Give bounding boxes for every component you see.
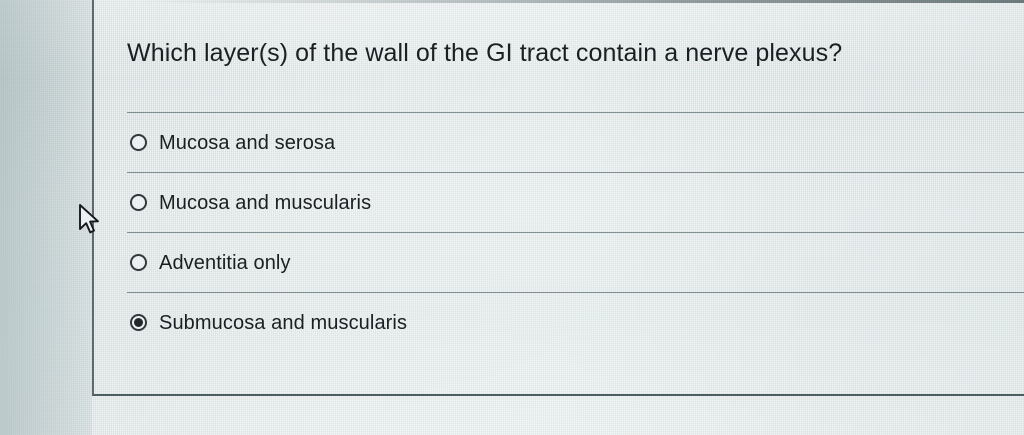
answer-option-4[interactable]: Submucosa and muscularis (127, 292, 1024, 352)
answer-option-label-4: Submucosa and muscularis (159, 311, 407, 335)
radio-button-icon-1[interactable] (130, 134, 147, 151)
radio-button-icon-4[interactable] (130, 314, 147, 331)
answer-option-1[interactable]: Mucosa and serosa (127, 112, 1024, 172)
question-text: Which layer(s) of the wall of the GI tra… (127, 38, 987, 68)
answer-option-label-3: Adventitia only (159, 251, 291, 275)
answer-option-3[interactable]: Adventitia only (127, 232, 1024, 292)
radio-button-icon-2[interactable] (130, 194, 147, 211)
radio-button-icon-3[interactable] (130, 254, 147, 271)
answer-option-2[interactable]: Mucosa and muscularis (127, 172, 1024, 232)
answer-option-label-2: Mucosa and muscularis (159, 191, 371, 215)
question-card: Which layer(s) of the wall of the GI tra… (92, 0, 1024, 396)
answer-options-list: Mucosa and serosa Mucosa and muscularis … (127, 112, 1024, 352)
answer-option-label-1: Mucosa and serosa (159, 131, 335, 155)
